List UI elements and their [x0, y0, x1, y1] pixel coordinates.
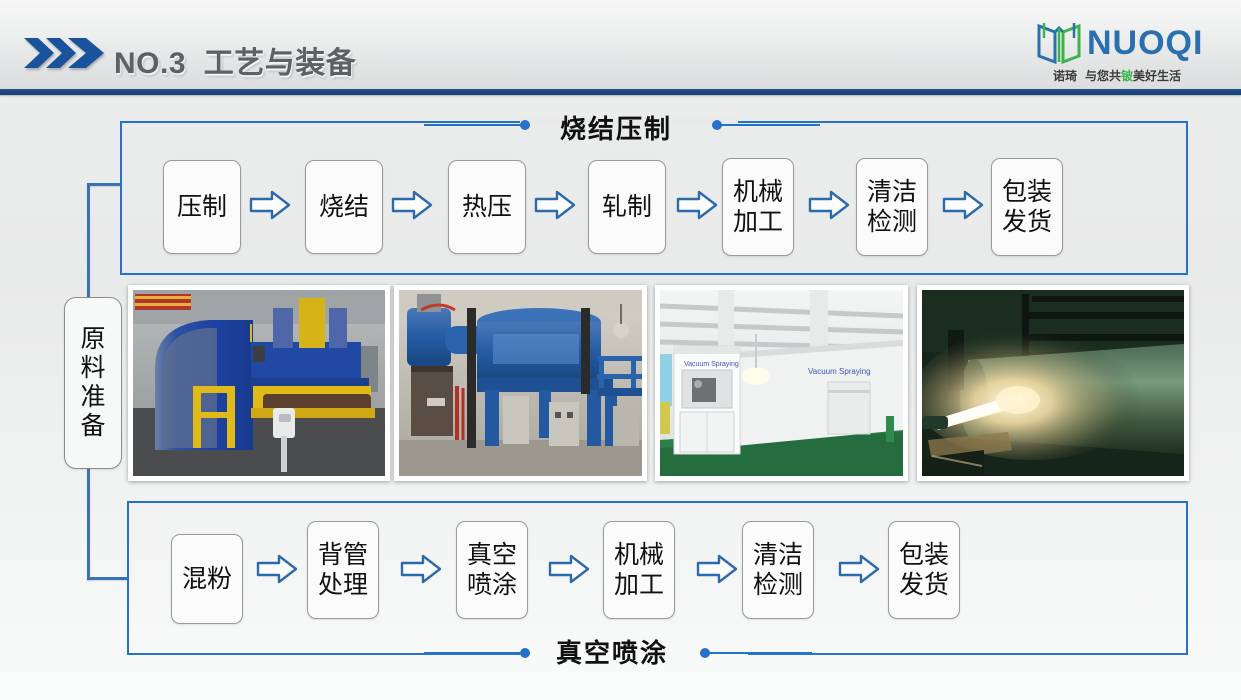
flow-arrow-icon	[534, 190, 576, 220]
step-label: 喷涂	[467, 570, 517, 601]
step-box-zhazhi[interactable]: 轧制	[588, 160, 666, 254]
logo-wordmark: NUOQI	[1087, 24, 1203, 63]
step-label: 加工	[614, 570, 664, 601]
vacuum-spraying-room-photo: Vacuum Spraying Vacuum Spraying	[655, 285, 908, 481]
flow-arrow-icon	[696, 554, 738, 584]
top-caption-line-left	[424, 124, 522, 126]
step-box-jixiejiagong[interactable]: 机械 加工	[722, 158, 794, 256]
step-label: 包装	[899, 540, 949, 571]
title-label: 工艺与装备	[204, 47, 357, 80]
step-label: 混粉	[182, 564, 232, 595]
bottom-caption-dot-left	[520, 648, 530, 658]
flow-arrow-icon	[838, 554, 880, 584]
step-label: 烧结	[319, 192, 369, 223]
step-label: 清洁	[753, 540, 803, 571]
step-label: 背管	[318, 540, 368, 571]
flow-arrow-icon	[808, 190, 850, 220]
step-box-jixiejiagong-2[interactable]: 机械 加工	[603, 521, 675, 619]
page-title: NO.3 工艺与装备	[114, 38, 356, 82]
flow-arrow-icon	[256, 554, 298, 584]
step-label: 热压	[462, 192, 512, 223]
bottom-caption-line-left	[424, 652, 522, 654]
flow-arrow-icon	[676, 190, 718, 220]
step-label: 机械	[733, 177, 783, 208]
step-label: 处理	[318, 570, 368, 601]
flow-arrow-icon	[391, 190, 433, 220]
connector-raw-to-bottom-vertical	[87, 466, 90, 580]
raw-material-char-1: 料	[80, 354, 105, 383]
logo-tagline: 诺琦与您共铍美好生活	[1053, 67, 1181, 84]
tagline-mid: 与您共	[1085, 69, 1121, 83]
step-box-hunfen[interactable]: 混粉	[171, 534, 243, 624]
slide-header: NO.3 工艺与装备 NUOQI 诺琦与您共铍美好生活	[0, 0, 1241, 96]
connector-raw-to-bottom-horizontal	[87, 577, 129, 580]
thermal-spray-process-photo	[917, 285, 1189, 481]
step-box-qingjiejiance[interactable]: 清洁 检测	[856, 158, 928, 256]
flow-arrow-icon	[400, 554, 442, 584]
open-book-logo-icon	[1035, 20, 1083, 71]
step-label: 发货	[1002, 207, 1052, 238]
flow-caption-sintering-pressing: 烧结压制	[560, 109, 672, 146]
hydraulic-press-photo	[128, 285, 390, 481]
step-box-yazhi[interactable]: 压制	[163, 160, 241, 254]
raw-material-char-0: 原	[80, 325, 105, 354]
brand-logo: NUOQI 诺琦与您共铍美好生活	[1035, 20, 1215, 86]
step-box-reya[interactable]: 热压	[448, 160, 526, 254]
tagline-highlight: 铍	[1121, 69, 1133, 83]
connector-raw-to-top-vertical	[87, 183, 90, 301]
flow-arrow-icon	[548, 554, 590, 584]
flow-arrow-icon	[942, 190, 984, 220]
raw-material-preparation-box[interactable]: 原 料 准 备	[64, 297, 122, 469]
step-label: 发货	[899, 570, 949, 601]
step-label: 包装	[1002, 177, 1052, 208]
bottom-caption-line-right	[708, 652, 812, 654]
svg-text:Vacuum Spraying: Vacuum Spraying	[808, 367, 871, 376]
tagline-prefix: 诺琦	[1053, 69, 1077, 83]
step-box-qingjiejiance-2[interactable]: 清洁 检测	[742, 521, 814, 619]
step-label: 加工	[733, 207, 783, 238]
step-box-baozhuangfahuo-2[interactable]: 包装 发货	[888, 521, 960, 619]
slide-number: NO.3	[114, 47, 186, 80]
step-label: 检测	[753, 570, 803, 601]
raw-material-char-2: 准	[80, 383, 105, 412]
step-box-zhenkongpentu[interactable]: 真空 喷涂	[456, 521, 528, 619]
step-box-baozhuangfahuo[interactable]: 包装 发货	[991, 158, 1063, 256]
top-caption-line-right	[720, 124, 820, 126]
double-chevron-right-icon	[24, 36, 110, 70]
step-label: 压制	[177, 192, 227, 223]
vacuum-furnace-photo	[394, 285, 647, 481]
step-label: 清洁	[867, 177, 917, 208]
step-label: 机械	[614, 540, 664, 571]
step-label: 真空	[467, 540, 517, 571]
raw-material-char-3: 备	[80, 412, 105, 441]
step-box-shaojie[interactable]: 烧结	[305, 160, 383, 254]
svg-text:Vacuum Spraying: Vacuum Spraying	[684, 361, 739, 368]
header-divider	[0, 89, 1241, 95]
connector-raw-to-top-horizontal	[87, 183, 122, 186]
flow-arrow-icon	[249, 190, 291, 220]
top-caption-dot-left	[520, 120, 530, 130]
step-label: 检测	[867, 207, 917, 238]
step-box-beiguanchuli[interactable]: 背管 处理	[307, 521, 379, 619]
tagline-suffix: 美好生活	[1133, 69, 1181, 83]
flow-caption-vacuum-spraying: 真空喷涂	[556, 633, 668, 670]
step-label: 轧制	[602, 192, 652, 223]
